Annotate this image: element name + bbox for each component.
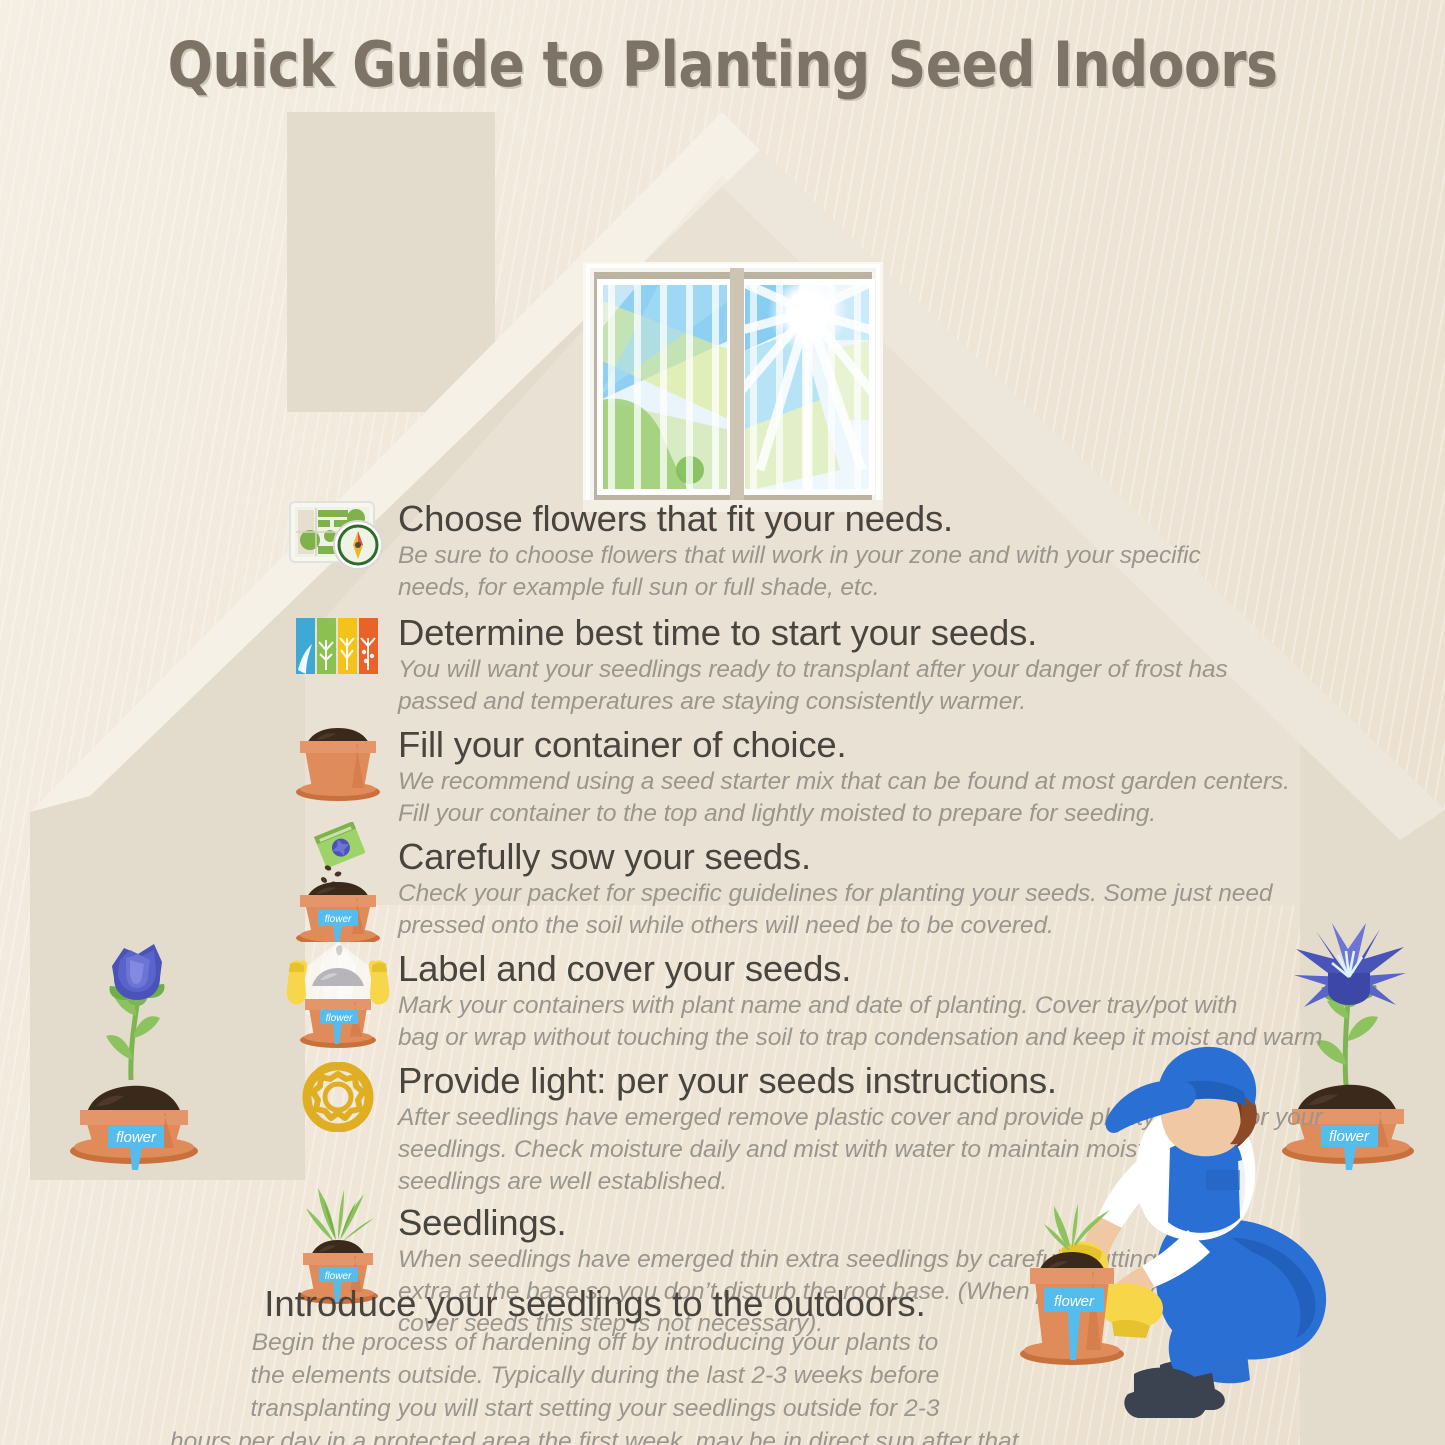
step-choose-flowers: Choose flowers that fit your needs. Be s… [286, 498, 1216, 604]
outro-heading: Introduce your seedlings to the outdoors… [170, 1282, 1020, 1326]
step-heading: Fill your container of choice. [398, 724, 1216, 766]
pot-label-text: flower [325, 914, 352, 925]
step-heading: Choose flowers that fit your needs. [398, 498, 1216, 540]
pot-label-text: flower [325, 1271, 352, 1282]
step-fill-container: Fill your container of choice. We recomm… [286, 724, 1216, 830]
step-heading: Label and cover your seeds. [398, 948, 1216, 990]
step-body: You will want your seedlings ready to tr… [398, 654, 1216, 718]
step-heading: Carefully sow your seeds. [398, 836, 1216, 878]
kneeling-gardener: flower [1000, 1030, 1345, 1445]
pot-label-text: flower [326, 1013, 353, 1024]
step-body: Check your packet for specific guideline… [398, 878, 1216, 942]
step-heading: Determine best time to start your seeds. [398, 612, 1216, 654]
step-body: Be sure to choose flowers that will work… [398, 540, 1216, 604]
left-flower-pot: flower [68, 920, 218, 1170]
infographic-canvas: Quick Guide to Planting Seed Indoors [0, 0, 1445, 1445]
pot-label-text: flower [1054, 1293, 1095, 1310]
outro-body: Begin the process of hardening off by in… [170, 1326, 1020, 1445]
gloves-covering-pot-icon: flower [286, 940, 390, 1050]
garden-plan-compass-icon [286, 498, 390, 572]
four-seasons-icon [286, 616, 390, 678]
filled-pot-icon [286, 720, 390, 810]
pot-label-text: flower [116, 1129, 157, 1146]
sun-medallion-icon [286, 1062, 390, 1132]
step-determine-time: Determine best time to start your seeds.… [286, 612, 1216, 718]
seed-packet-pouring-icon: flower [286, 822, 390, 942]
step-sow-seeds: flower Carefully sow your seeds. Check y… [286, 836, 1216, 942]
step-body: We recommend using a seed starter mix th… [398, 766, 1216, 830]
outro-block: Introduce your seedlings to the outdoors… [170, 1282, 1020, 1445]
